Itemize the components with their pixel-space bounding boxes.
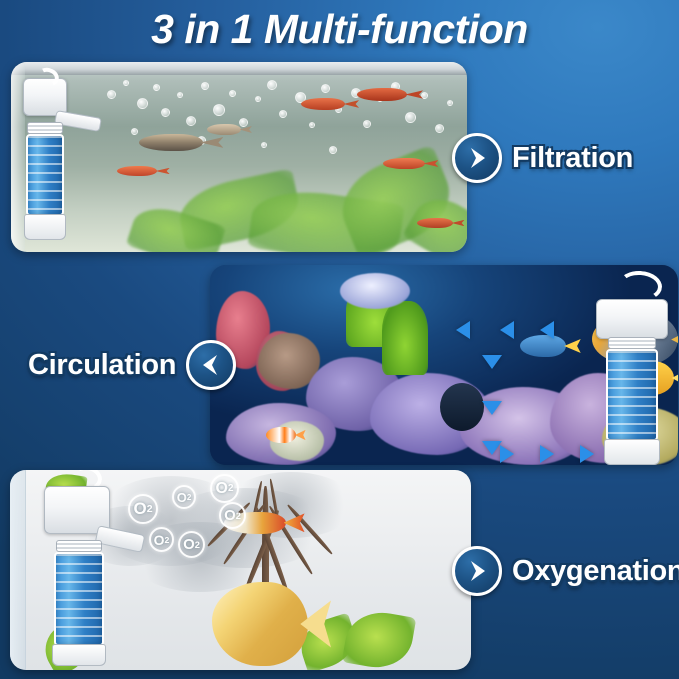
o2-badge: O2 [210,474,239,503]
fish-red [117,166,157,176]
air-bubble [229,90,236,97]
flow-arrow-right [500,445,514,463]
air-bubble [137,98,148,109]
device-outlet-nozzle [95,525,146,553]
coral-branch [382,301,428,375]
o2-badge-sub: 2 [187,493,191,502]
o2-badge-sub: 2 [195,540,200,550]
o2-badge-text: O [216,480,228,498]
filter-device [38,474,138,666]
air-bubble [363,120,371,128]
air-bubble [123,80,129,86]
flow-arrow-down [482,401,502,415]
panel-filtration [11,62,467,252]
feature-label-circulation: Circulation [28,340,236,390]
o2-badge-sub: 2 [165,535,170,545]
fish-clownfish [266,427,296,443]
feature-label-oxygenation: Oxygenation [452,546,679,596]
device-collar [608,337,656,349]
air-bubble [177,92,183,98]
air-bubble [447,100,453,106]
o2-badge-text: O [133,499,146,519]
panel-circulation [210,265,678,465]
fish-dark-tang [440,383,484,431]
fish-zebra-danio [139,134,203,151]
device-filter-cartridge [606,349,658,441]
o2-badge-sub: 2 [236,511,241,521]
o2-badge-sub: 2 [228,483,234,494]
fish-red [301,98,345,110]
flow-arrow-down [482,355,502,369]
tank-glass-edge [10,470,26,670]
panel-oxygenation [10,470,471,670]
o2-badge: O2 [149,527,174,552]
device-collar [56,540,102,552]
air-bubble [321,84,330,93]
coral-clam [340,273,410,309]
device-pump-head [596,299,668,339]
o2-badge: O2 [128,494,158,524]
air-bubble [153,84,160,91]
o2-badge-text: O [224,507,236,524]
o2-badge: O2 [178,531,205,558]
feature-label-text: Oxygenation [512,555,679,588]
page-title: 3 in 1 Multi-function [0,6,679,53]
product-feature-graphic: 3 in 1 Multi-function [0,0,679,679]
device-base [52,644,106,666]
o2-badge: O2 [219,502,246,529]
air-bubble [279,110,287,118]
flow-arrow-left [500,321,514,339]
feature-label-text: Circulation [28,349,176,382]
filter-device [19,70,81,248]
fish-red [357,88,407,101]
air-bubble [107,90,116,99]
air-bubble [161,108,170,117]
air-bubble [435,124,444,133]
device-collar [27,122,63,134]
o2-badge-sub: 2 [147,503,153,515]
chevron-right-icon [452,546,502,596]
device-filter-cartridge [26,134,64,216]
chevron-right-icon [452,133,502,183]
o2-badge-text: O [177,490,187,505]
flow-arrow-down [482,441,502,455]
flow-arrow-left [456,321,470,339]
air-bubble [131,128,138,135]
flow-arrow-left [540,321,554,339]
chevron-left-icon [186,340,236,390]
fish-red [383,158,425,169]
feature-label-filtration: Filtration [452,133,633,183]
feature-label-text: Filtration [512,142,633,175]
air-bubble [405,112,416,123]
o2-badge-text: O [154,532,165,548]
device-filter-cartridge [54,552,104,646]
fish-angelfish [212,582,308,666]
filter-device [588,281,678,461]
air-bubble [255,96,261,102]
air-bubble [267,80,277,90]
air-bubble [261,142,267,148]
flow-arrow-right [540,445,554,463]
air-bubble [309,122,315,128]
o2-badge-text: O [183,536,195,553]
air-bubble [213,104,225,116]
fish-small [207,124,241,135]
device-base [604,439,660,465]
air-bubble [186,116,196,126]
air-bubble [329,146,337,154]
o2-badge: O2 [172,485,196,509]
air-bubble [201,82,209,90]
fish-red [417,218,453,228]
device-base [24,214,66,240]
